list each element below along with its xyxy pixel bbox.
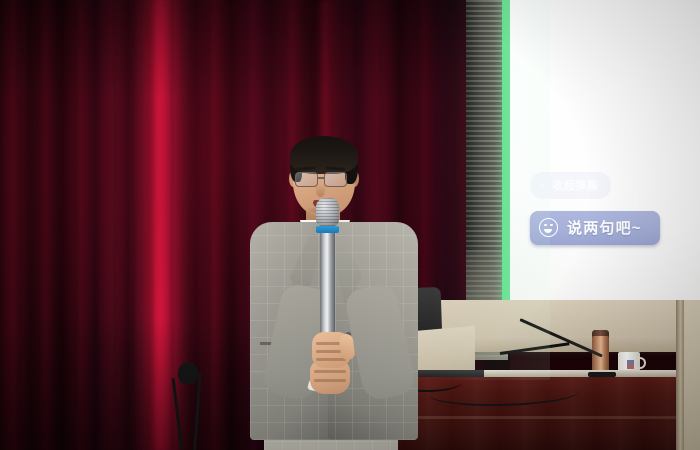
collapse-danmaku-label: 收起弹幕 <box>552 177 598 193</box>
collapse-danmaku-button[interactable]: ‹ 收起弹幕 <box>530 172 611 199</box>
presenter-finger <box>314 370 346 373</box>
floor-microphone-head <box>178 362 198 384</box>
glasses-lens-left <box>295 172 318 187</box>
mug-logo <box>627 360 634 369</box>
glasses-bridge <box>318 177 324 179</box>
presenter-finger <box>316 358 346 361</box>
projection-screen <box>510 0 700 334</box>
right-wall <box>684 300 700 450</box>
presenter-finger <box>314 379 346 382</box>
handheld-microphone-band <box>316 226 339 233</box>
smiley-face-icon <box>539 218 558 237</box>
desk-microphone-base <box>588 372 616 377</box>
presenter-nose <box>316 184 325 197</box>
handheld-microphone-body <box>320 218 335 348</box>
say-something-button[interactable]: 说两句吧~ <box>530 211 660 245</box>
presenter <box>250 136 428 450</box>
handheld-microphone-grille <box>316 198 339 226</box>
say-something-label: 说两句吧~ <box>567 217 642 238</box>
mug-handle <box>637 357 646 369</box>
chevron-left-icon: ‹ <box>541 180 545 191</box>
glasses-lens-right <box>324 172 347 187</box>
presentation-photo: ‹ 收起弹幕 说两句吧~ <box>0 0 700 450</box>
